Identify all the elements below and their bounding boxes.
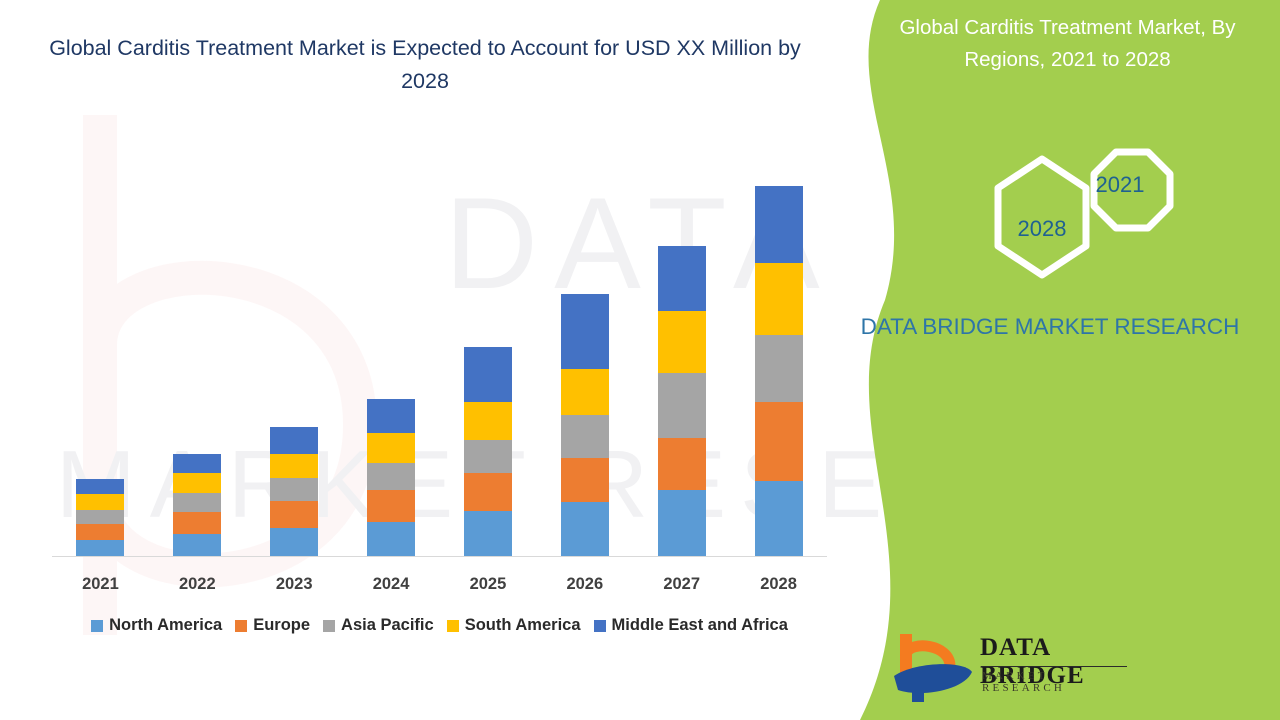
legend-swatch — [447, 620, 459, 632]
x-axis-tick-label: 2026 — [536, 572, 633, 596]
bar-segment[interactable] — [561, 415, 609, 458]
bar-segment[interactable] — [270, 427, 318, 454]
legend-item[interactable]: Europe — [235, 616, 310, 635]
bar-segment[interactable] — [367, 490, 415, 522]
brand-panel-title: Global Carditis Treatment Market, By Reg… — [865, 12, 1270, 76]
legend-item[interactable]: South America — [447, 616, 581, 635]
bar-segment[interactable] — [367, 463, 415, 491]
chart-panel: Global Carditis Treatment Market is Expe… — [0, 0, 860, 720]
logo-tagline: MARKET RESEARCH — [982, 670, 1128, 694]
legend-item[interactable]: North America — [91, 616, 222, 635]
legend-swatch — [323, 620, 335, 632]
bar-stack[interactable] — [464, 347, 512, 557]
legend-swatch — [91, 620, 103, 632]
bar-segment[interactable] — [270, 454, 318, 479]
bar-segment[interactable] — [658, 246, 706, 312]
bar-segment[interactable] — [76, 494, 124, 510]
bar-segment[interactable] — [270, 501, 318, 528]
chart-x-axis-labels: 20212022202320242025202620272028 — [52, 572, 827, 598]
logo-mark-icon — [888, 628, 978, 708]
bar-segment[interactable] — [561, 294, 609, 369]
legend-label: South America — [465, 616, 581, 635]
logo-divider — [981, 666, 1127, 667]
bar-segment[interactable] — [755, 186, 803, 263]
legend-label: Middle East and Africa — [612, 616, 788, 635]
x-axis-tick-label: 2021 — [52, 572, 149, 596]
infographic-canvas: DATA MARKET RESEARCH Global Carditis Tre… — [0, 0, 1280, 720]
x-axis-tick-label: 2025 — [440, 572, 537, 596]
bar-segment[interactable] — [270, 528, 318, 557]
chart-plot-area — [52, 120, 827, 557]
bar-segment[interactable] — [658, 311, 706, 373]
bar-segment[interactable] — [367, 522, 415, 557]
bar-segment[interactable] — [658, 373, 706, 438]
bar-segment[interactable] — [464, 402, 512, 440]
brand-name: DATA BRIDGE MARKET RESEARCH — [850, 310, 1250, 343]
bar-stack[interactable] — [561, 294, 609, 557]
bar-stack[interactable] — [658, 246, 706, 557]
legend-item[interactable]: Asia Pacific — [323, 616, 434, 635]
bar-segment[interactable] — [173, 512, 221, 534]
hexagon-badges: 2021 2028 — [970, 128, 1190, 288]
bar-segment[interactable] — [76, 524, 124, 540]
bar-segment[interactable] — [76, 479, 124, 494]
legend-label: Asia Pacific — [341, 616, 434, 635]
x-axis-tick-label: 2022 — [149, 572, 246, 596]
legend-item[interactable]: Middle East and Africa — [594, 616, 788, 635]
bar-stack[interactable] — [173, 454, 221, 557]
bar-segment[interactable] — [173, 454, 221, 474]
bar-segment[interactable] — [658, 490, 706, 557]
hexagon-label-start: 2021 — [1082, 172, 1158, 198]
bar-segment[interactable] — [755, 402, 803, 482]
bar-segment[interactable] — [464, 473, 512, 511]
bar-segment[interactable] — [464, 440, 512, 474]
bar-segment[interactable] — [76, 510, 124, 524]
legend-swatch — [235, 620, 247, 632]
chart-title: Global Carditis Treatment Market is Expe… — [30, 32, 820, 98]
bar-segment[interactable] — [755, 335, 803, 402]
legend-label: North America — [109, 616, 222, 635]
x-axis-tick-label: 2027 — [633, 572, 730, 596]
bar-stack[interactable] — [755, 186, 803, 557]
bar-segment[interactable] — [755, 263, 803, 336]
bar-segment[interactable] — [367, 399, 415, 433]
bar-segment[interactable] — [173, 473, 221, 493]
bar-stack[interactable] — [367, 399, 415, 557]
bar-segment[interactable] — [270, 478, 318, 501]
bar-stack[interactable] — [76, 479, 124, 557]
bar-segment[interactable] — [173, 493, 221, 512]
company-logo: DATA BRIDGE MARKET RESEARCH — [888, 626, 1128, 710]
brand-panel-content: Global Carditis Treatment Market, By Reg… — [820, 0, 1280, 720]
hexagon-outlines-icon — [970, 128, 1190, 288]
x-axis-tick-label: 2024 — [343, 572, 440, 596]
bar-segment[interactable] — [561, 369, 609, 415]
bar-segment[interactable] — [561, 502, 609, 557]
legend-label: Europe — [253, 616, 310, 635]
legend-swatch — [594, 620, 606, 632]
bar-segment[interactable] — [76, 540, 124, 557]
chart-x-axis — [52, 556, 827, 557]
bar-stack[interactable] — [270, 427, 318, 557]
x-axis-tick-label: 2023 — [246, 572, 343, 596]
bar-segment[interactable] — [464, 347, 512, 402]
bar-segment[interactable] — [755, 481, 803, 557]
x-axis-tick-label: 2028 — [730, 572, 827, 596]
chart-legend: North AmericaEuropeAsia PacificSouth Ame… — [52, 616, 827, 635]
bar-segment[interactable] — [173, 534, 221, 557]
bar-segment[interactable] — [561, 458, 609, 503]
bar-segment[interactable] — [367, 433, 415, 463]
hexagon-label-end: 2028 — [998, 216, 1086, 242]
bar-segment[interactable] — [658, 438, 706, 491]
bar-segment[interactable] — [464, 511, 512, 557]
